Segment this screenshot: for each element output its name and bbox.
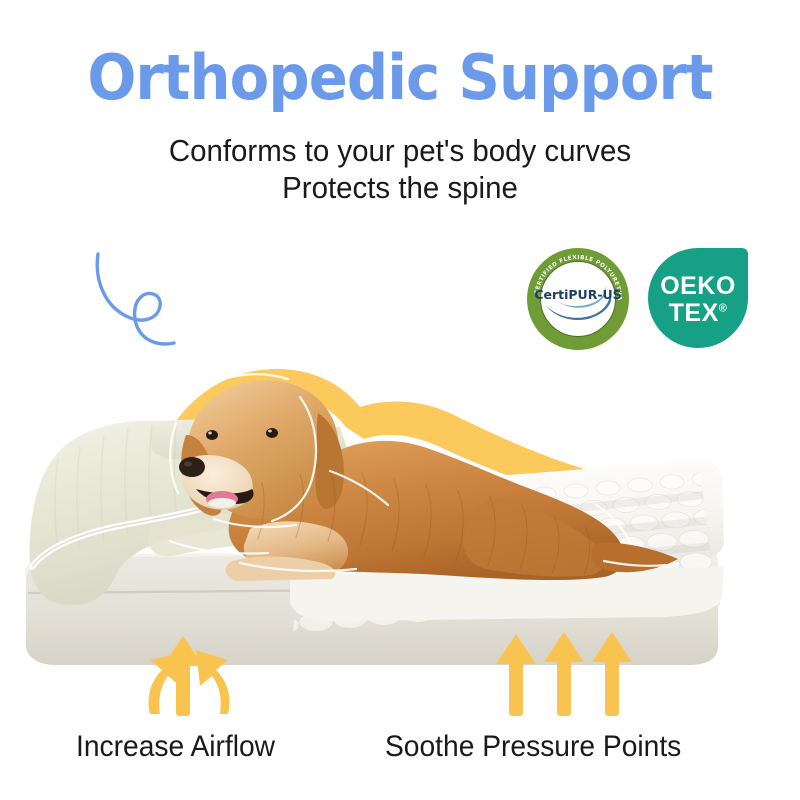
- subtitle-line-2: Protects the spine: [20, 170, 780, 206]
- callout-arrows: [0, 612, 800, 722]
- pressure-arrow-2-shaft: [557, 656, 571, 716]
- product-feature-graphic: Orthopedic Support Conforms to your pet'…: [0, 0, 800, 800]
- subtitle-line-1: Conforms to your pet's body curves: [20, 133, 780, 169]
- dog-lower-jaw: [208, 498, 236, 508]
- dog-eye-right-glint: [268, 430, 272, 433]
- pressure-arrow-2-head: [544, 632, 584, 662]
- dog-eye-left-glint: [208, 432, 212, 435]
- dog-eye-right: [266, 428, 278, 438]
- pressure-arrow-3-shaft: [605, 656, 619, 716]
- dog-eye-left: [206, 430, 218, 440]
- pressure-arrow-group: [496, 632, 632, 716]
- dog-nose-highlight: [184, 462, 192, 467]
- airflow-arrow-group: [149, 636, 230, 716]
- dog-nose: [179, 457, 205, 477]
- callout-label-pressure-points: Soothe Pressure Points: [385, 730, 681, 764]
- callout-label-airflow: Increase Airflow: [76, 730, 275, 764]
- pressure-arrow-3-head: [592, 632, 632, 662]
- pressure-arrow-1-shaft: [509, 658, 523, 716]
- page-title: Orthopedic Support: [28, 44, 772, 112]
- airflow-arrow-3: [196, 650, 230, 714]
- pressure-arrow-1-head: [496, 634, 536, 664]
- airflow-arrow-2-shaft: [176, 660, 190, 716]
